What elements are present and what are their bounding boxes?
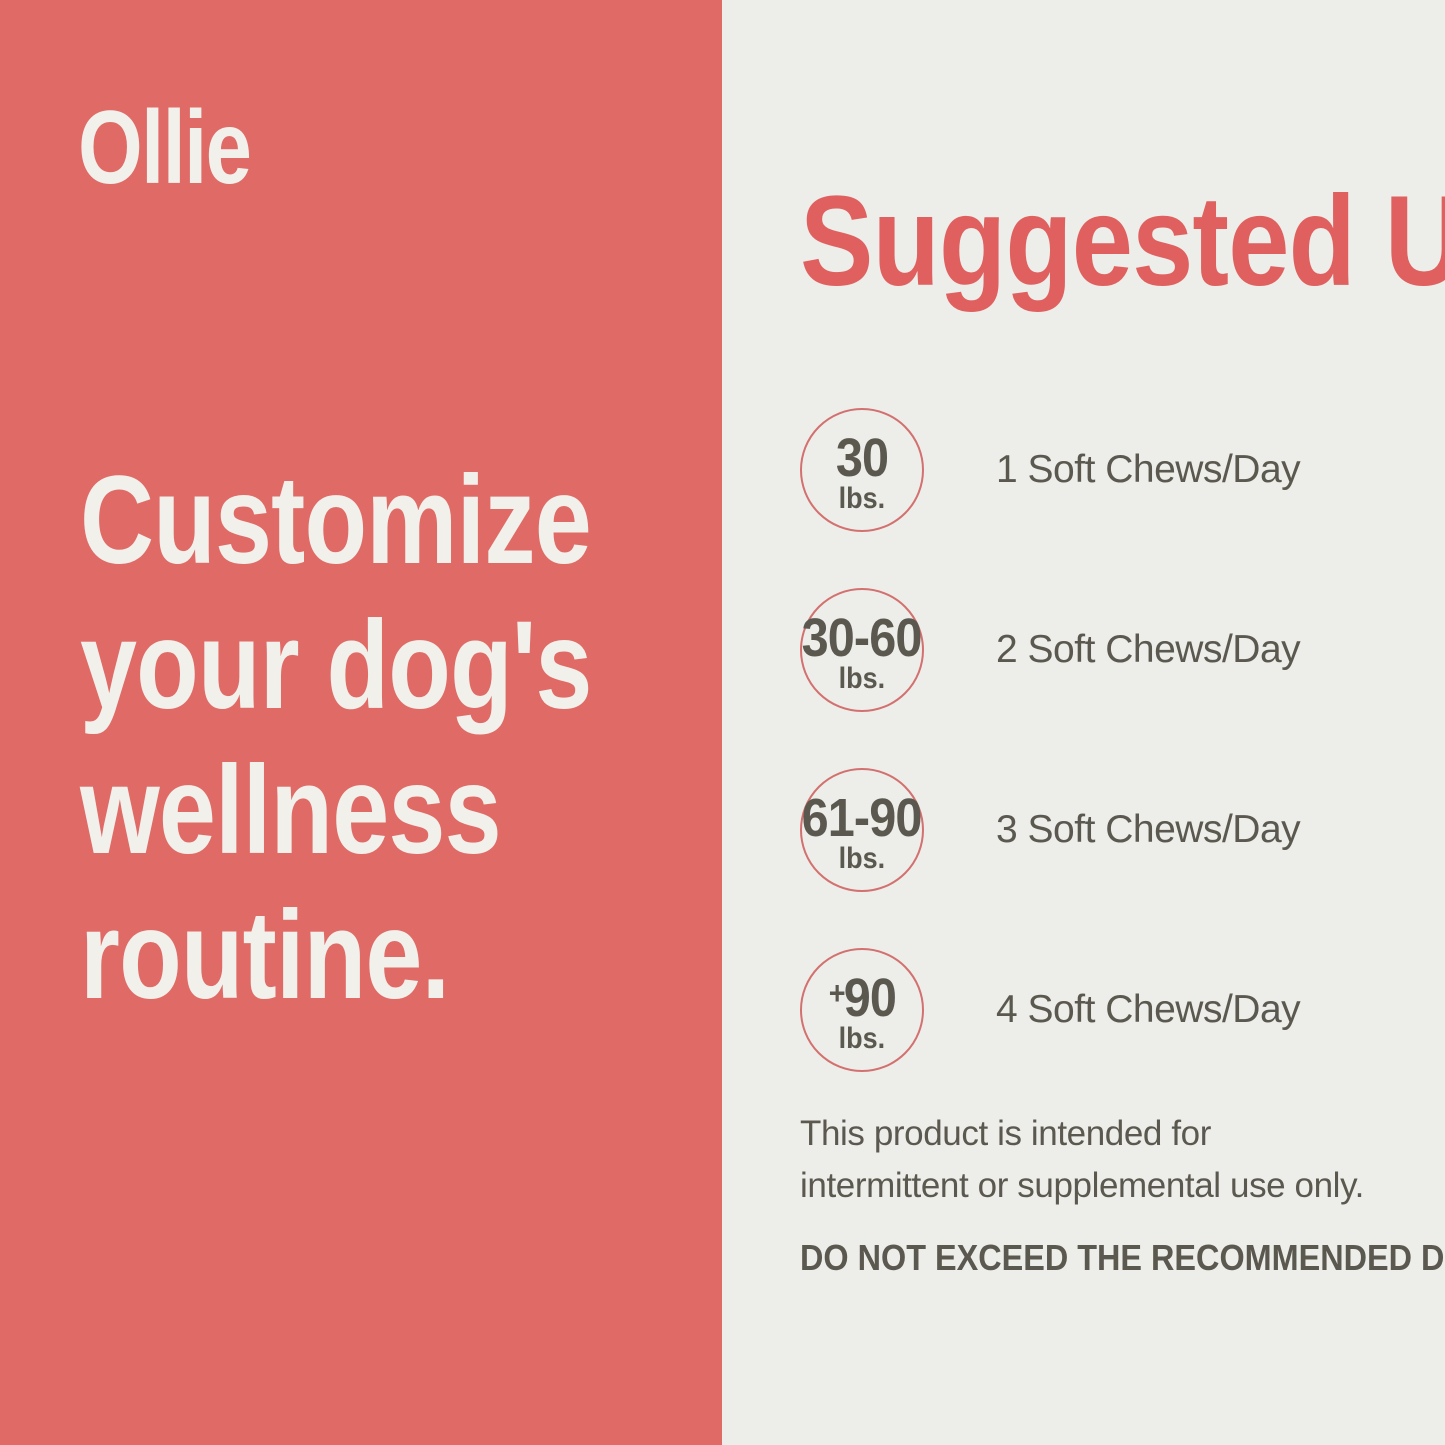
weight-number: 30-60 <box>802 608 922 668</box>
brand-panel: Ollie Customize your dog's wellness rout… <box>0 0 722 1445</box>
weight-number: 90 <box>843 968 895 1028</box>
dosage-list: 30 lbs. 1 Soft Chews/Day 30-60 lbs. 2 So… <box>800 408 1400 1128</box>
weight-number: 30 <box>836 428 888 488</box>
weight-badge-circle: 30-60 lbs. <box>800 588 924 712</box>
weight-badge-circle: +90 lbs. <box>800 948 924 1072</box>
dose-text: 3 Soft Chews/Day <box>996 768 1300 892</box>
dosage-row: 30 lbs. 1 Soft Chews/Day <box>800 408 1400 588</box>
dosage-row: 30-60 lbs. 2 Soft Chews/Day <box>800 588 1400 768</box>
section-title: Suggested Use <box>800 178 1445 306</box>
product-info-graphic: Ollie Customize your dog's wellness rout… <box>0 0 1445 1445</box>
headline-line-2: your dog's <box>80 593 588 738</box>
disclaimer-line-2: intermittent or supplemental use only. <box>800 1160 1440 1212</box>
headline-line-4: routine. <box>80 883 588 1028</box>
weight-unit: lbs. <box>839 845 886 873</box>
dosage-row: 61-90 lbs. 3 Soft Chews/Day <box>800 768 1400 948</box>
disclaimer-line-1: This product is intended for <box>800 1108 1440 1160</box>
plus-sign: + <box>828 975 843 1011</box>
weight-badge-circle: 61-90 lbs. <box>800 768 924 892</box>
weight-value: 30 <box>836 428 888 483</box>
suggested-use-panel: Suggested Use 30 lbs. 1 Soft Chews/Day 3… <box>722 0 1445 1445</box>
dose-text: 4 Soft Chews/Day <box>996 948 1300 1072</box>
weight-unit: lbs. <box>839 1025 886 1053</box>
weight-unit: lbs. <box>839 485 886 513</box>
disclaimer: This product is intended for intermitten… <box>800 1108 1440 1278</box>
headline-line-1: Customize <box>80 448 588 593</box>
weight-value: 30-60 <box>802 608 922 663</box>
dosage-row: +90 lbs. 4 Soft Chews/Day <box>800 948 1400 1128</box>
dose-text: 2 Soft Chews/Day <box>996 588 1300 712</box>
weight-value: +90 <box>828 968 895 1023</box>
weight-value: 61-90 <box>802 788 922 843</box>
weight-number: 61-90 <box>802 788 922 848</box>
headline-line-3: wellness <box>80 738 588 883</box>
headline: Customize your dog's wellness routine. <box>80 448 700 1028</box>
weight-unit: lbs. <box>839 665 886 693</box>
ollie-logo: Ollie <box>78 96 250 200</box>
disclaimer-warning: DO NOT EXCEED THE RECOMMENDED DAILY AMOU… <box>800 1238 1376 1278</box>
weight-badge-circle: 30 lbs. <box>800 408 924 532</box>
dose-text: 1 Soft Chews/Day <box>996 408 1300 532</box>
disclaimer-body: This product is intended for intermitten… <box>800 1108 1440 1212</box>
